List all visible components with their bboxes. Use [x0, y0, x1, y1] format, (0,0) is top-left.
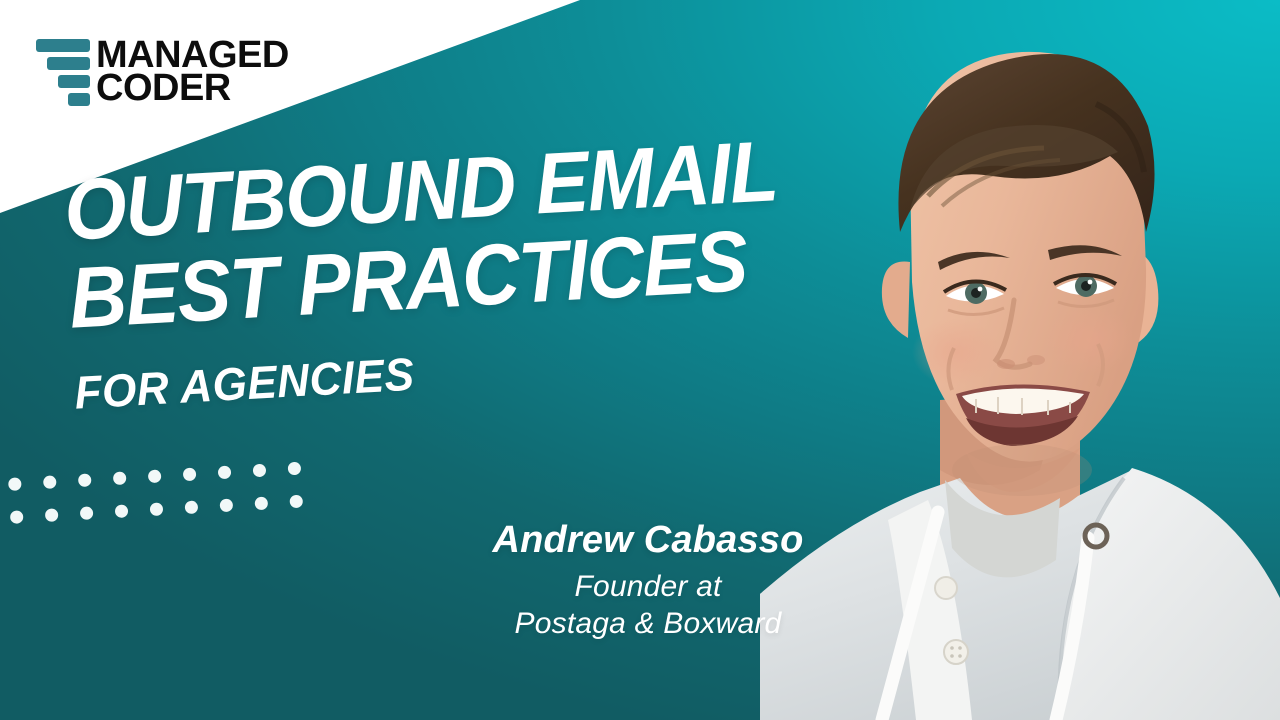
speaker-role: Founder at Postaga & Boxward [470, 569, 826, 642]
speaker-role-line2: Postaga & Boxward [470, 606, 826, 643]
speaker-block: Andrew Cabasso Founder at Postaga & Boxw… [470, 520, 826, 642]
speaker-role-line1: Founder at [470, 569, 826, 606]
funnel-bars-icon [36, 36, 90, 108]
brand-name-line2: CODER [96, 72, 289, 105]
dot-row [10, 495, 303, 524]
brand-logo[interactable]: MANAGED CODER [36, 36, 289, 108]
speaker-name: Andrew Cabasso [470, 520, 826, 561]
headline-block: OUTBOUND EMAIL BEST PRACTICES FOR AGENCI… [62, 125, 842, 417]
brand-wordmark: MANAGED CODER [96, 39, 289, 106]
video-thumbnail-slide: MANAGED CODER OUTBOUND EMAIL BEST PRACTI… [0, 0, 1280, 720]
